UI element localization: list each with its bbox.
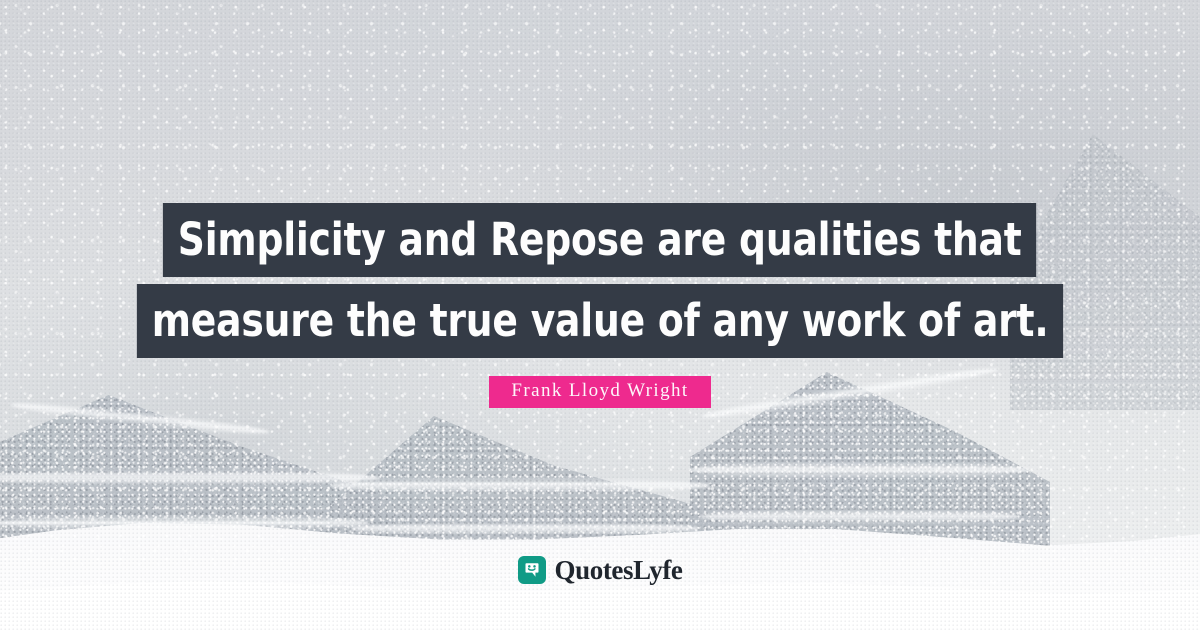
quote-line-1: Simplicity and Repose are qualities that (163, 203, 1037, 277)
brand-footer: QuotesLyfe (0, 556, 1200, 584)
smiley-quote-icon (518, 556, 546, 584)
quote-card: Simplicity and Repose are qualities that… (0, 0, 1200, 630)
author-attribution: Frank Lloyd Wright (0, 376, 1200, 408)
quote-line-2: measure the true value of any work of ar… (137, 284, 1064, 358)
quote-block: Simplicity and Repose are qualities that… (0, 203, 1200, 358)
author-name-badge: Frank Lloyd Wright (489, 376, 710, 408)
brand-name: QuotesLyfe (555, 557, 683, 584)
